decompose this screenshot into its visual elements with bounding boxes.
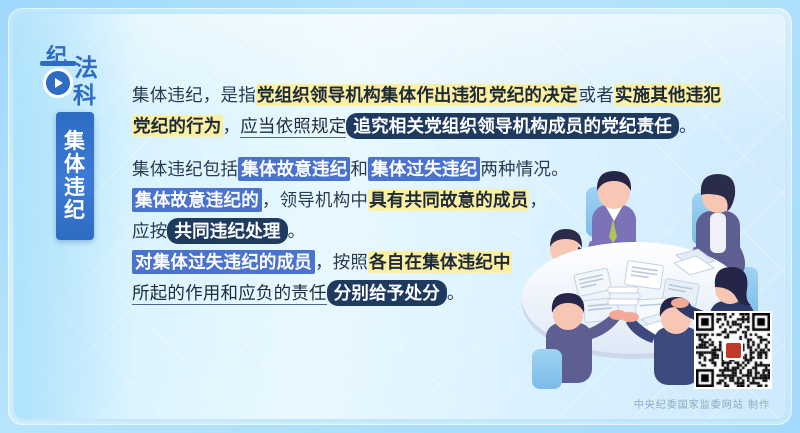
- logo-char-ke: 科: [73, 85, 96, 108]
- text-run: 具有共同故意的成员: [368, 189, 529, 211]
- text-run: 集体故意违纪的: [132, 188, 262, 212]
- logo-char-fa: 法: [74, 56, 98, 80]
- text-run: ，: [529, 190, 547, 210]
- brand-block: 纪 法 科 集 体 违 纪: [40, 44, 126, 224]
- text-run: ，领导机构中: [262, 190, 368, 210]
- qr-code[interactable]: [694, 311, 772, 389]
- text-run: 所起的作用和应负的责任: [132, 283, 327, 305]
- brand-logo: 纪 法 科: [40, 44, 122, 106]
- text-run: 追究相关党组织领导机构成员的党纪责任: [346, 113, 679, 139]
- text-run: 应按: [132, 221, 167, 241]
- badge-char-2: 违: [64, 176, 86, 199]
- definition-text: 集体违纪，是指党组织领导机构集体作出违犯党纪的决定或者实施其他违犯 党纪的行为，…: [132, 80, 732, 315]
- text-line: 党纪的行为，应当依照规定追究相关党组织领导机构成员的党纪责任。: [132, 111, 732, 142]
- text-run: 。: [288, 221, 306, 241]
- logo-bar: [40, 61, 76, 66]
- text-run: ，: [223, 116, 241, 136]
- text-run: 分别给予处分: [327, 280, 447, 306]
- text-run: 。: [679, 116, 697, 136]
- badge-char-0: 集: [64, 130, 86, 153]
- text-run: 集体过失违纪: [368, 157, 480, 181]
- play-icon: [43, 68, 73, 98]
- text-line: 集体违纪包括集体故意违纪和集体过失违纪两种情况。: [132, 154, 732, 185]
- poster-card: 纪 法 科 集 体 违 纪 集体违纪，是指党组织领导机构集体作出违犯党纪的决定或…: [14, 14, 786, 419]
- text-run: ，按照: [315, 252, 368, 272]
- text-run: 共同违纪处理: [167, 218, 287, 244]
- text-run: 党纪的决定: [488, 84, 579, 106]
- text-run: 两种情况。: [480, 159, 569, 179]
- paragraph-1: 集体违纪，是指党组织领导机构集体作出违犯党纪的决定或者实施其他违犯 党纪的行为，…: [132, 80, 732, 142]
- paragraph-2: 集体违纪包括集体故意违纪和集体过失违纪两种情况。 集体故意违纪的，领导机构中具有…: [132, 154, 732, 309]
- qr-center-logo: [723, 340, 743, 360]
- badge-char-1: 体: [64, 153, 86, 176]
- text-run: 各自在集体违纪中: [368, 251, 512, 273]
- text-run: 。: [447, 283, 465, 303]
- credit-text: 中央纪委国家监委网站 制作: [634, 396, 770, 411]
- text-line: 应按共同违纪处理。: [132, 216, 732, 247]
- text-line: 集体故意违纪的，领导机构中具有共同故意的成员，: [132, 185, 732, 216]
- poster-root: 纪 法 科 集 体 违 纪 集体违纪，是指党组织领导机构集体作出违犯党纪的决定或…: [0, 0, 800, 433]
- text-line: 对集体过失违纪的成员，按照各自在集体违纪中: [132, 247, 732, 278]
- text-run: 党组织领导机构集体作出违犯: [256, 84, 488, 106]
- text-run: 集体违纪，是指: [132, 85, 256, 105]
- text-run: 实施其他违犯: [614, 84, 722, 106]
- text-line: 所起的作用和应负的责任分别给予处分。: [132, 278, 732, 309]
- text-run: 集体故意违纪: [238, 157, 350, 181]
- text-run: 或者: [579, 85, 614, 105]
- topic-badge: 集 体 违 纪: [56, 112, 94, 240]
- text-run: 和: [350, 159, 368, 179]
- text-run: 集体违纪包括: [132, 159, 238, 179]
- text-run: 对集体过失违纪的成员: [132, 250, 315, 274]
- text-line: 集体违纪，是指党组织领导机构集体作出违犯党纪的决定或者实施其他违犯: [132, 80, 732, 111]
- badge-char-3: 纪: [64, 199, 86, 222]
- text-run: 应当依照规定: [240, 116, 346, 138]
- text-run: 党纪的行为: [132, 115, 223, 137]
